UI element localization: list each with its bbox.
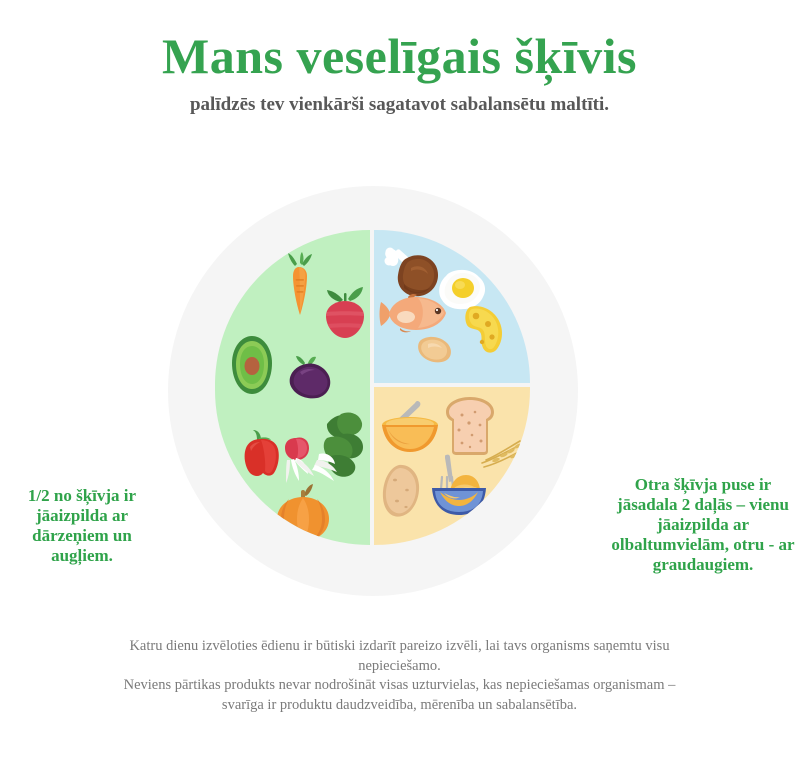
footer-line-4: svarīga ir produktu daudzveidība, mērenī… <box>40 697 759 715</box>
cheese-icon <box>462 302 508 356</box>
pumpkin-icon <box>267 482 339 544</box>
carrot-icon <box>283 252 317 318</box>
label-vegetables-half: 1/2 no šķīvja ir jāaizpilda ar dārzeņiem… <box>0 486 164 566</box>
pasta-bowl-icon <box>426 451 492 519</box>
footer-line-2: nepieciešamo. <box>40 658 759 676</box>
footer-line-3: Neviens pārtikas produkts nevar nodrošin… <box>40 677 759 695</box>
eggplant-icon <box>283 354 335 402</box>
leafy-greens-icon <box>297 408 365 490</box>
footer-line-1: Katru dienu izvēloties ēdienu ir būtiski… <box>40 638 759 656</box>
footer-note: Katru dienu izvēloties ēdienu ir būtiski… <box>40 638 759 717</box>
plate-circle <box>215 230 530 545</box>
label-protein-grains-half: Otra šķīvja puse ir jāsadala 2 daļās – v… <box>608 475 798 575</box>
page-subtitle: palīdzēs tev vienkārši sagatavot sabalan… <box>0 94 799 117</box>
plate-segment-protein[interactable] <box>374 230 530 383</box>
porridge-bowl-icon <box>378 399 442 457</box>
plate-segment-vegetables[interactable] <box>215 230 370 545</box>
beet-icon <box>321 283 369 340</box>
healthy-plate-diagram: 1/2 no šķīvja ir jāaizpilda ar dārzeņiem… <box>0 170 799 610</box>
header: Mans veselīgais šķīvis palīdzēs tev vien… <box>0 28 799 117</box>
avocado-icon <box>229 334 275 396</box>
cashew-icon <box>412 334 456 366</box>
plate-segment-grains[interactable] <box>374 387 530 545</box>
fish-icon <box>378 292 450 336</box>
potato-icon <box>380 463 422 519</box>
page-title: Mans veselīgais šķīvis <box>0 28 799 84</box>
